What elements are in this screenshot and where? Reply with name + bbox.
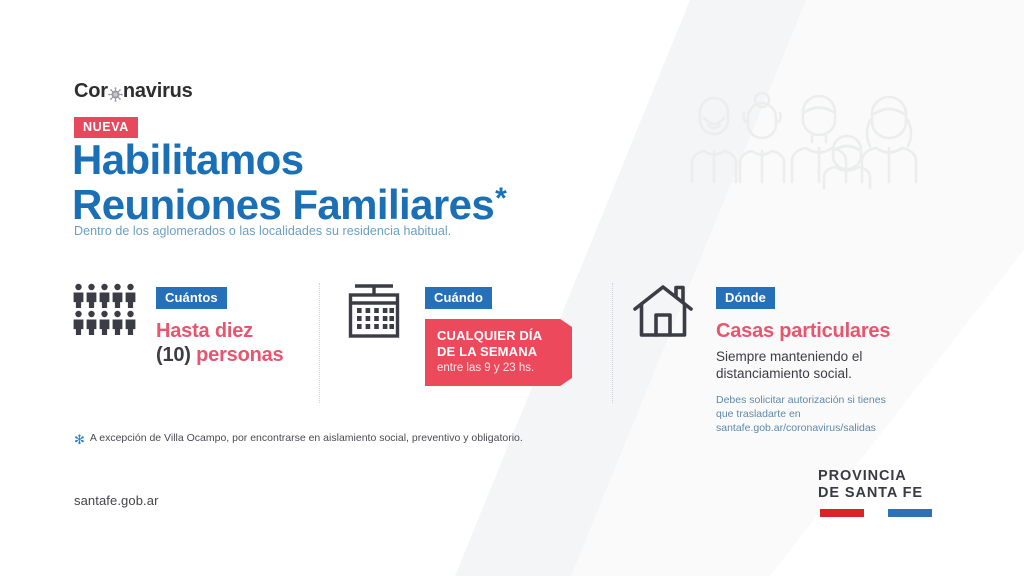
logo-bar-red xyxy=(820,509,864,517)
cuando-banner: CUALQUIER DÍA DE LA SEMANA entre las 9 y… xyxy=(425,319,572,386)
headline-line-1: Habilitamos xyxy=(72,138,505,183)
donde-body-line2: distanciamiento social. xyxy=(716,365,952,382)
coronavirus-wordmark: Cor xyxy=(74,80,193,103)
cuantos-headline-line1: Hasta diez xyxy=(156,320,312,344)
donde-note-line1: Debes solicitar autorización si tienes xyxy=(716,394,952,408)
tag-cuantos: Cuántos xyxy=(156,287,227,309)
donde-note-line2: que trasladarte en xyxy=(716,408,952,422)
site-url[interactable]: santafe.gob.ar xyxy=(74,493,159,508)
column-divider-1 xyxy=(319,283,321,403)
cuando-banner-sub: entre las 9 y 23 hs. xyxy=(437,362,560,376)
cuantos-headline-line2: (10) personas xyxy=(156,344,312,368)
cuando-banner-line1: CUALQUIER DÍA xyxy=(437,328,560,344)
headline-line-2-wrap: Reuniones Familiares* xyxy=(72,183,505,228)
info-column-cuantos: Cuántos Hasta diez (10) personas xyxy=(72,283,312,367)
cuando-banner-line2: DE LA SEMANA xyxy=(437,344,560,360)
wordmark-text-pre: Cor xyxy=(74,80,108,103)
house-icon xyxy=(632,283,694,344)
poster-canvas: Cor xyxy=(0,0,1024,576)
headline-line-2: Reuniones Familiares xyxy=(72,181,494,228)
nueva-badge: NUEVA xyxy=(74,117,138,138)
page-title: Habilitamos Reuniones Familiares* xyxy=(72,138,505,227)
logo-bar-gap xyxy=(864,509,888,517)
people-group-icon xyxy=(72,283,138,340)
tag-donde: Dónde xyxy=(716,287,775,309)
donde-note: Debes solicitar autorización si tienes q… xyxy=(716,394,952,436)
logo-color-bars xyxy=(820,509,932,517)
cuantos-count: (10) xyxy=(156,344,191,366)
virus-icon xyxy=(108,85,123,100)
logo-line-2: DE SANTA FE xyxy=(818,485,932,502)
cuantos-headline: Hasta diez (10) personas xyxy=(156,320,312,367)
logo-bar-blue xyxy=(888,509,932,517)
calendar-icon xyxy=(345,283,403,346)
provincia-santa-fe-logo: PROVINCIA DE SANTA FE xyxy=(818,468,932,517)
info-column-donde: Dónde Casas particulares Siempre manteni… xyxy=(632,283,952,436)
donde-body-line1: Siempre manteniendo el xyxy=(716,348,952,365)
column-divider-2 xyxy=(612,283,614,403)
footnote-asterisk-icon: ✻ xyxy=(74,433,85,446)
footnote: ✻ A excepción de Villa Ocampo, por encon… xyxy=(74,432,523,445)
wordmark-text-post: navirus xyxy=(123,80,193,103)
tag-cuando: Cuándo xyxy=(425,287,492,309)
family-group-illustration xyxy=(686,78,936,190)
donde-note-link[interactable]: santafe.gob.ar/coronavirus/salidas xyxy=(716,422,952,436)
logo-line-1: PROVINCIA xyxy=(818,468,932,485)
donde-body: Siempre manteniendo el distanciamiento s… xyxy=(716,348,952,383)
footnote-text: A excepción de Villa Ocampo, por encontr… xyxy=(90,432,523,444)
donde-headline: Casas particulares xyxy=(716,320,952,344)
page-subtitle: Dentro de los aglomerados o las localida… xyxy=(74,224,451,238)
info-column-cuando: Cuándo CUALQUIER DÍA DE LA SEMANA entre … xyxy=(345,283,615,386)
headline-asterisk: * xyxy=(495,182,506,215)
cuantos-unit: personas xyxy=(196,344,283,366)
